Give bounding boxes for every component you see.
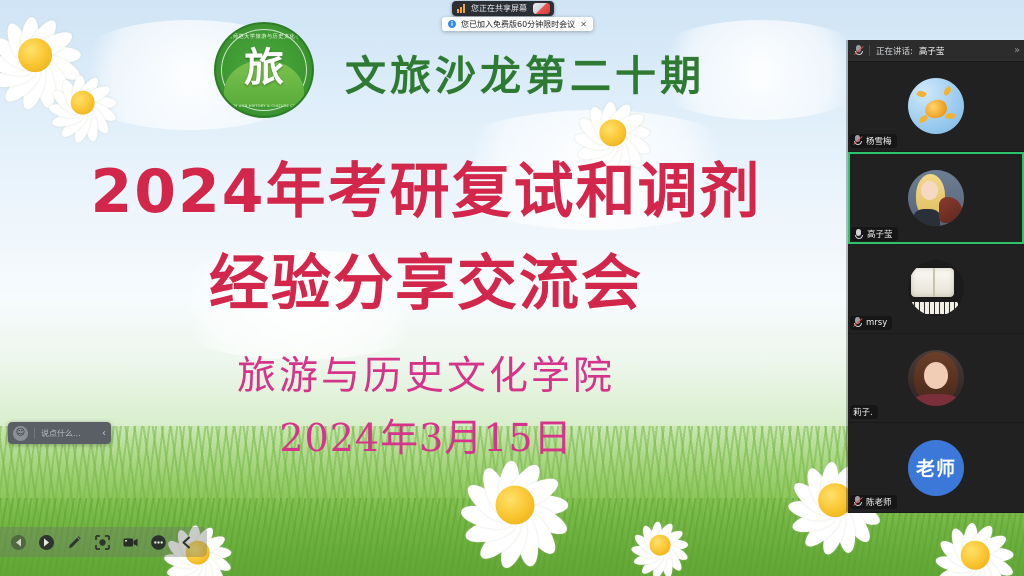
participant-nametag: mrsy (850, 316, 892, 330)
daisy-flower (35, 55, 130, 150)
college-logo: 重庆师范大学旅游与历史文化学院 旅 TOURISM AND HISTORY & … (214, 22, 314, 118)
info-icon: i (448, 20, 456, 28)
daisy-petal (19, 65, 50, 112)
daisy-core (70, 90, 95, 115)
daisy-petal (22, 16, 61, 62)
participant-tile[interactable]: 老师 陈老师 (848, 423, 1024, 513)
avatar-initials: 老师 (916, 454, 956, 481)
signal-bars-icon (457, 4, 465, 13)
speaking-label: 正在讲话: (876, 45, 913, 57)
participant-nametag: 杨雪梅 (850, 134, 897, 148)
daisy-petal (83, 103, 112, 137)
annotation-input-box[interactable]: ☺ 说点什么... ‹ (8, 422, 111, 444)
notification-text: 您已加入免费版60分钟限时会议 (461, 19, 575, 30)
participant-tile-active[interactable]: 高子莹 (848, 152, 1024, 245)
logo-english-arc-text: TOURISM AND HISTORY & CULTURE COLLEGE (216, 104, 312, 108)
daisy-petal (78, 82, 112, 108)
daisy-petal (70, 74, 86, 108)
camera-record-icon[interactable] (122, 534, 139, 551)
free-plan-notification: i 您已加入免费版60分钟限时会议 ✕ (442, 17, 593, 31)
daisy-petal (35, 63, 57, 109)
daisy-petal (37, 47, 81, 64)
daisy-petal (59, 77, 82, 112)
screen-share-status-bar[interactable]: 您正在共享屏幕 (452, 1, 554, 16)
active-speaker-header: 正在讲话: 高子莹 ›› (848, 40, 1024, 62)
participant-tile[interactable]: 莉子. (848, 334, 1024, 424)
daisy-petal (84, 98, 118, 124)
participants-panel: 正在讲话: 高子莹 ›› 杨雪梅 (848, 40, 1024, 513)
daisy-petal (47, 101, 81, 121)
daisy-petal (3, 20, 34, 67)
daisy-petal (614, 126, 650, 140)
microphone-icon (854, 229, 863, 240)
pen-annotate-icon[interactable] (66, 534, 83, 551)
microphone-icon (854, 45, 863, 56)
participant-name: 莉子. (853, 406, 873, 418)
daisy-core (18, 38, 52, 72)
share-status-text: 您正在共享屏幕 (471, 3, 527, 14)
daisy-petal (18, 16, 40, 62)
daisy-petal (36, 55, 75, 101)
salon-title: 文旅沙龙第二十期 (345, 42, 745, 102)
divider (869, 45, 870, 56)
participant-name: 杨雪梅 (866, 135, 892, 147)
active-speaker-name: 高子莹 (919, 45, 945, 57)
stop-share-icon[interactable] (533, 3, 550, 14)
participant-name: 高子莹 (867, 228, 893, 240)
participant-tile[interactable]: mrsy (848, 244, 1024, 334)
daisy-petal (37, 49, 84, 84)
daisy-petal (83, 108, 99, 142)
participant-nametag: 高子莹 (851, 227, 898, 241)
daisy-petal (49, 86, 81, 117)
daisy-petal (57, 110, 89, 141)
logo-glyph: 旅 (244, 48, 284, 88)
avatar (908, 170, 964, 226)
participant-name: 陈老师 (866, 496, 892, 508)
daisy-petal (0, 52, 33, 79)
logo-chinese-arc-text: 重庆师范大学旅游与历史文化学院 (216, 33, 312, 40)
avatar (908, 78, 964, 134)
annotation-input[interactable]: 说点什么... (34, 428, 96, 439)
microphone-muted-icon (853, 496, 862, 507)
next-slide-icon[interactable] (38, 534, 55, 551)
daisy-petal (599, 101, 617, 138)
microphone-muted-icon (853, 135, 862, 146)
daisy-petal (0, 33, 34, 75)
participant-name: mrsy (866, 318, 887, 328)
emoji-icon[interactable]: ☺ (13, 426, 28, 441)
collapse-toolbar-icon[interactable] (178, 534, 195, 551)
daisy-petal (71, 110, 94, 145)
daisy-flower (0, 0, 100, 120)
meeting-screen-share-window: 重庆师范大学旅游与历史文化学院 旅 TOURISM AND HISTORY & … (0, 0, 1024, 576)
participant-tiles: 杨雪梅 高子莹 (848, 62, 1024, 513)
avatar (908, 350, 964, 406)
close-icon[interactable]: ✕ (580, 20, 587, 29)
daisy-petal (29, 27, 76, 62)
share-toolbar (0, 527, 207, 557)
screenshot-icon[interactable] (94, 534, 111, 551)
daisy-petal (587, 105, 612, 143)
daisy-petal (73, 74, 102, 108)
participant-nametag: 陈老师 (850, 495, 897, 509)
chevron-double-right-icon[interactable]: ›› (1014, 45, 1018, 56)
more-options-icon[interactable] (150, 534, 167, 551)
avatar (908, 260, 964, 316)
daisy-petal (50, 109, 84, 129)
daisy-petal (84, 96, 116, 108)
daisy-petal (0, 64, 37, 91)
daisy-petal (602, 101, 633, 138)
daisy-petal (1, 65, 45, 107)
daisy-petal (607, 110, 645, 139)
participant-tile[interactable]: 杨雪梅 (848, 62, 1024, 152)
chevron-left-icon[interactable]: ‹ (102, 428, 106, 439)
participant-nametag: 莉子. (850, 405, 878, 419)
microphone-muted-icon (853, 317, 862, 328)
previous-slide-icon[interactable] (10, 534, 27, 551)
avatar: 老师 (908, 440, 964, 496)
